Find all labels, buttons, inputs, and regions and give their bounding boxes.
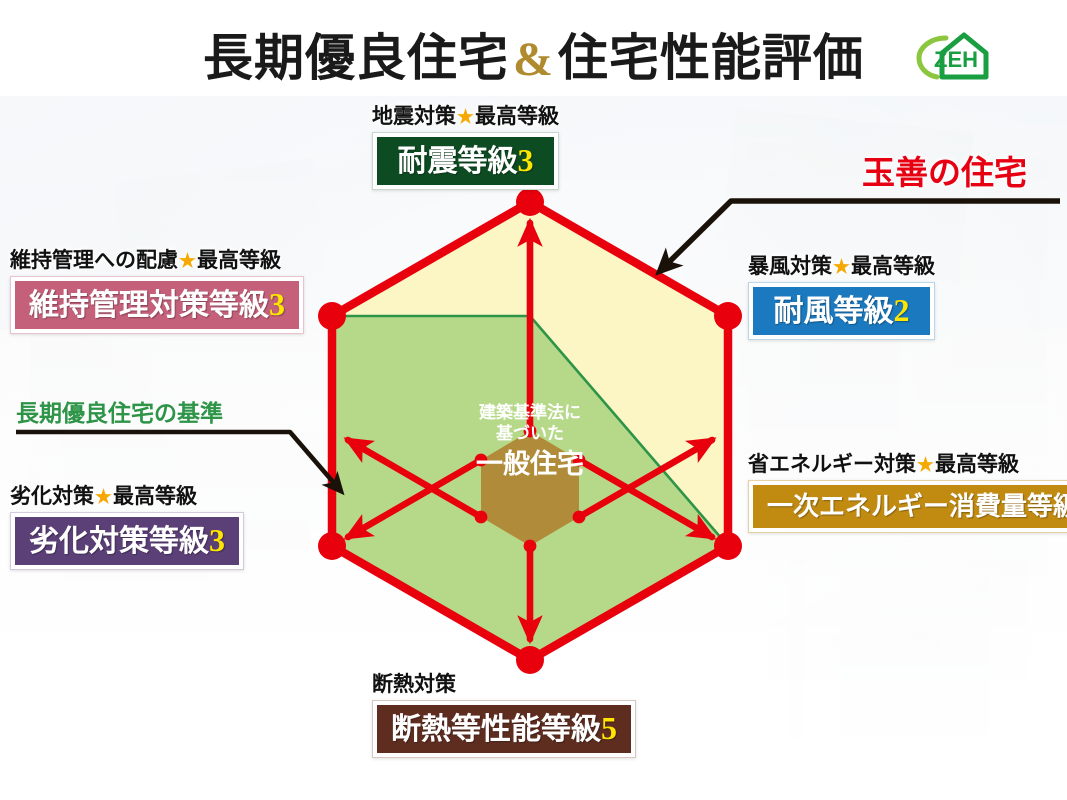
label-degradation-grade-value: 3 xyxy=(209,522,225,558)
star-icon: ★ xyxy=(94,487,113,508)
center-caption-line3: 一般住宅 xyxy=(476,448,584,479)
label-maintenance-box: 維持管理対策等級3 xyxy=(10,276,304,334)
zeh-logo-text: ZEH xyxy=(934,47,978,72)
star-icon: ★ xyxy=(832,257,851,278)
star-icon: ★ xyxy=(178,251,197,272)
star-icon xyxy=(456,675,458,696)
label-wind-head: 暴風対策★最高等級 xyxy=(748,254,935,279)
hexagon-radar-chart: 建築基準法に 基づいた 一般住宅 xyxy=(252,150,812,710)
callout-company-label: 玉善の住宅 xyxy=(862,158,1027,191)
label-wind-box-inner: 耐風等級2 xyxy=(753,287,930,335)
label-energy: 省エネルギー対策★最高等級 一次エネルギー消費量等級6 xyxy=(748,452,1067,533)
label-maintenance-box-inner: 維持管理対策等級3 xyxy=(15,281,299,329)
label-energy-category: 省エネルギー対策 xyxy=(748,452,916,476)
label-insulation-category: 断熱対策 xyxy=(372,672,456,696)
vertex-insulation xyxy=(516,646,544,674)
vertex-wind xyxy=(714,302,742,330)
center-caption-line2: 基づいた xyxy=(495,423,564,443)
label-energy-grade-note: 最高等級 xyxy=(935,452,1019,476)
label-wind-grade-value: 2 xyxy=(894,292,910,328)
label-energy-box: 一次エネルギー消費量等級6 xyxy=(748,480,1067,533)
vertex-quake xyxy=(516,188,544,216)
label-quake-grade-value: 3 xyxy=(518,142,534,178)
label-maintenance: 維持管理への配慮★最高等級 維持管理対策等級3 xyxy=(10,248,304,334)
label-insulation-box: 断熱等性能等級5 xyxy=(372,700,636,758)
title-part-2: 住宅性能評価 xyxy=(558,30,864,86)
label-quake-grade-note: 最高等級 xyxy=(475,104,559,128)
label-quake-box: 耐震等級3 xyxy=(372,132,559,190)
label-wind: 暴風対策★最高等級 耐風等級2 xyxy=(748,254,935,340)
vertex-degradation xyxy=(318,532,346,560)
label-maintenance-grade-note: 最高等級 xyxy=(197,248,281,272)
zeh-logo: ZEH xyxy=(906,25,1006,87)
label-insulation-grade-value: 5 xyxy=(601,710,617,746)
label-wind-grade-note: 最高等級 xyxy=(851,254,935,278)
center-caption-line1: 建築基準法に xyxy=(478,402,581,422)
label-maintenance-head: 維持管理への配慮★最高等級 xyxy=(10,248,304,273)
label-quake-category: 地震対策 xyxy=(372,104,456,128)
star-icon: ★ xyxy=(916,455,935,476)
label-quake-head: 地震対策★最高等級 xyxy=(372,104,559,129)
label-insulation: 断熱対策 断熱等性能等級5 xyxy=(372,672,636,758)
label-wind-category: 暴風対策 xyxy=(748,254,832,278)
label-wind-grade-label: 耐風等級 xyxy=(774,295,894,328)
callout-standard-label: 長期優良住宅の基準 xyxy=(16,402,223,425)
label-insulation-grade-label: 断熱等性能等級 xyxy=(391,713,601,746)
vertex-maintenance xyxy=(318,302,346,330)
label-degradation-grade-note: 最高等級 xyxy=(113,484,197,508)
vertex-energy xyxy=(714,532,742,560)
label-insulation-head: 断熱対策 xyxy=(372,672,636,697)
title-ampersand: & xyxy=(509,33,558,86)
label-degradation-grade-label: 劣化対策等級 xyxy=(29,525,209,558)
star-icon: ★ xyxy=(456,107,475,128)
label-degradation: 劣化対策★最高等級 劣化対策等級3 xyxy=(10,484,244,570)
label-maintenance-grade-value: 3 xyxy=(269,286,285,322)
label-quake: 地震対策★最高等級 耐震等級3 xyxy=(372,104,559,190)
label-energy-grade-label: 一次エネルギー消費量等級 xyxy=(767,492,1067,521)
label-quake-grade-label: 耐震等級 xyxy=(398,145,518,178)
label-degradation-box-inner: 劣化対策等級3 xyxy=(15,517,239,565)
label-energy-box-inner: 一次エネルギー消費量等級6 xyxy=(753,485,1067,528)
label-degradation-box: 劣化対策等級3 xyxy=(10,512,244,570)
infographic-canvas: 長期優良住宅&住宅性能評価 ZEH xyxy=(0,0,1067,800)
label-wind-box: 耐風等級2 xyxy=(748,282,935,340)
label-insulation-box-inner: 断熱等性能等級5 xyxy=(377,705,631,753)
label-degradation-head: 劣化対策★最高等級 xyxy=(10,484,244,509)
label-quake-box-inner: 耐震等級3 xyxy=(377,137,554,185)
label-energy-head: 省エネルギー対策★最高等級 xyxy=(748,452,1067,477)
label-maintenance-grade-label: 維持管理対策等級 xyxy=(29,289,269,322)
title-part-1: 長期優良住宅 xyxy=(203,30,509,86)
label-maintenance-category: 維持管理への配慮 xyxy=(10,248,178,272)
label-degradation-category: 劣化対策 xyxy=(10,484,94,508)
